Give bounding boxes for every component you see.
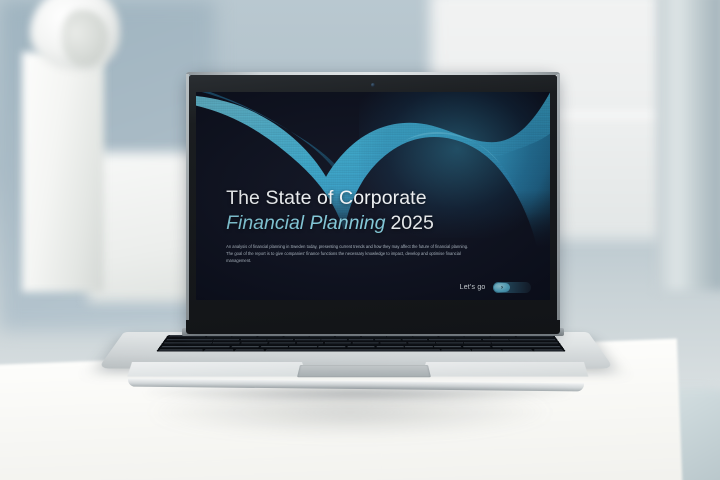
palmrest-right	[422, 362, 589, 377]
slide-title-line1: The State of Corporate	[226, 188, 536, 210]
laptop-lid: The State of Corporate Financial Plannin…	[186, 72, 560, 334]
cta-knob: ›	[494, 283, 510, 292]
slide-title-line2: Financial Planning2025	[226, 212, 536, 235]
keyboard-row	[165, 339, 556, 342]
keyboard[interactable]	[156, 335, 566, 352]
lid-rim-left	[186, 74, 189, 320]
keyboard-row	[163, 342, 559, 345]
palmrest-left	[127, 362, 306, 377]
slide-title-emphasis: Financial Planning	[226, 212, 385, 234]
lid-rim-right	[557, 74, 560, 320]
lets-go-cta[interactable]: Let's go ›	[460, 282, 531, 293]
webcam-icon	[371, 83, 375, 87]
screenshot-scene: The State of Corporate Financial Plannin…	[0, 0, 720, 480]
cta-pill-toggle[interactable]: ›	[493, 282, 531, 293]
keyboard-row	[158, 350, 565, 352]
slide-title-year: 2025	[390, 212, 433, 234]
laptop-screen: The State of Corporate Financial Plannin…	[196, 92, 550, 300]
chevron-right-icon: ›	[501, 285, 503, 291]
slide-subtitle: An analysis of financial planning in Swe…	[226, 243, 473, 264]
trackpad[interactable]	[297, 365, 431, 377]
slide-canvas: The State of Corporate Financial Plannin…	[196, 92, 550, 300]
laptop-device: The State of Corporate Financial Plannin…	[0, 0, 720, 480]
keyboard-row	[160, 346, 561, 349]
laptop-base-shadow	[146, 388, 570, 402]
cta-label: Let's go	[460, 284, 486, 291]
lid-rim-top	[186, 72, 560, 75]
slide-content: The State of Corporate Financial Plannin…	[226, 188, 536, 264]
